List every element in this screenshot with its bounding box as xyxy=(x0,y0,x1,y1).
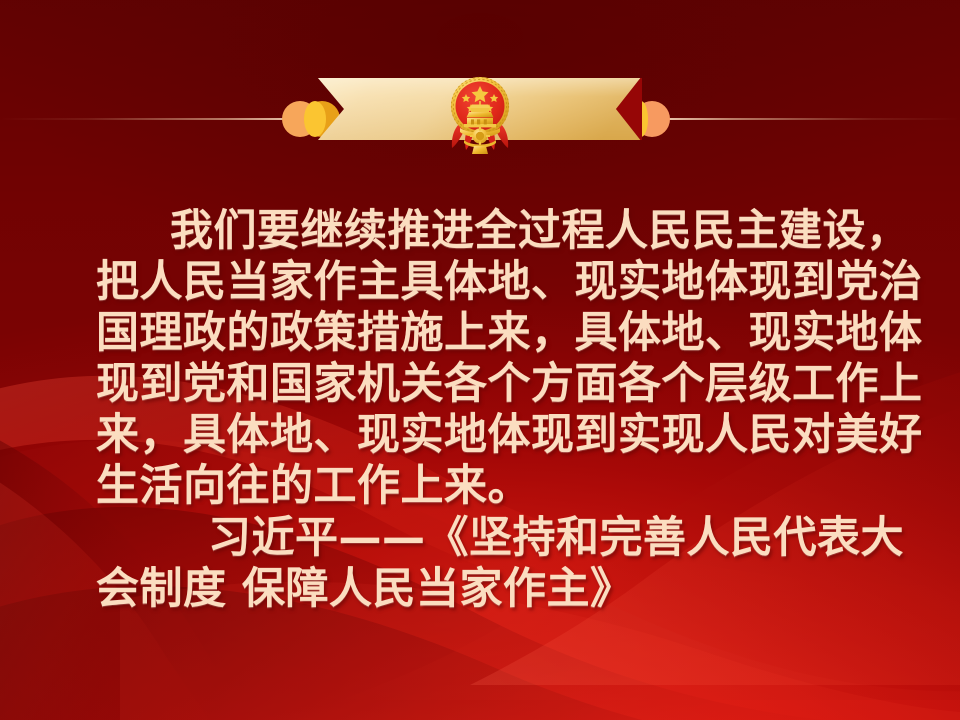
attribution-line: 习近平——《坚持和完善人民代表大 xyxy=(96,513,868,564)
quote-line: 生活向往的工作上来。 xyxy=(96,461,868,512)
decor-line-right xyxy=(668,118,960,120)
decor-line-left xyxy=(0,118,292,120)
quote-line: 我们要继续推进全过程人民民主建设， xyxy=(96,206,868,257)
banner-header xyxy=(0,0,960,200)
attribution-line: 会制度 保障人民当家作主》 xyxy=(96,564,868,615)
quote-line: 现到党和国家机关各个方面各个层级工作上 xyxy=(96,359,868,410)
quote-line: 国理政的政策措施上来，具体地、现实地体 xyxy=(96,308,868,359)
attribution-block: 习近平——《坚持和完善人民代表大 会制度 保障人民当家作主》 xyxy=(96,513,868,615)
quote-line: 来，具体地、现实地体现到实现人民对美好 xyxy=(96,410,868,461)
china-national-emblem-icon xyxy=(438,62,522,158)
quote-line: 把人民当家作主具体地、现实地体现到党治 xyxy=(96,257,868,308)
poster-canvas: 我们要继续推进全过程人民民主建设， 把人民当家作主具体地、现实地体现到党治 国理… xyxy=(0,0,960,720)
quote-text-block: 我们要继续推进全过程人民民主建设， 把人民当家作主具体地、现实地体现到党治 国理… xyxy=(96,206,868,512)
emblem-knot xyxy=(472,146,488,154)
